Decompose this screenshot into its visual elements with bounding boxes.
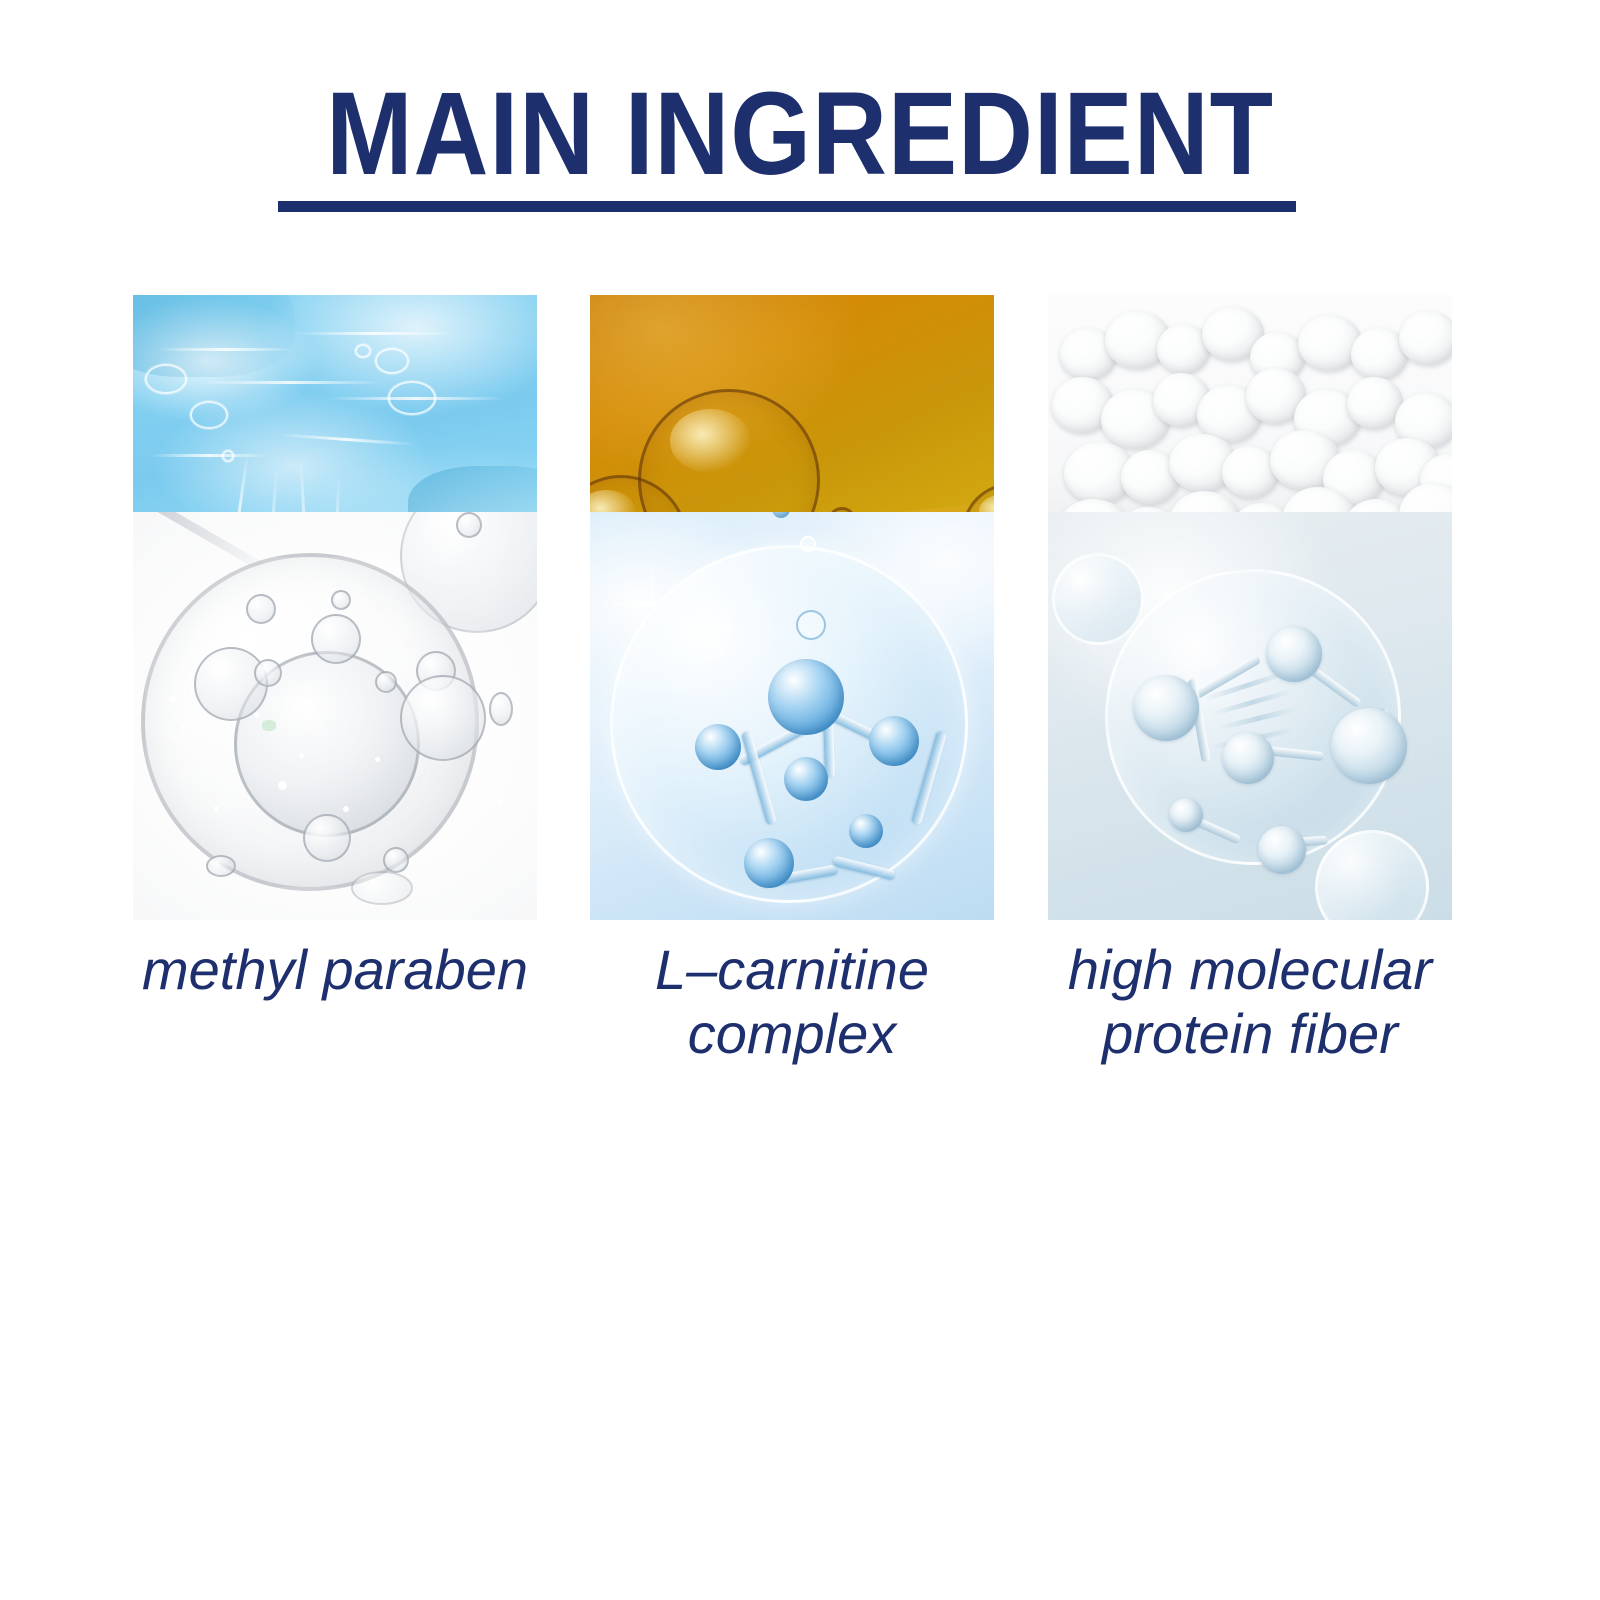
ingredient-card-l-carnitine-complex[interactable]: L–carnitine complex bbox=[590, 512, 994, 1066]
atom-node bbox=[1331, 708, 1407, 784]
atom-node bbox=[1169, 798, 1203, 832]
methyl-paraben-clear-sphere-photo bbox=[133, 512, 537, 920]
ingredient-label: high molecular protein fiber bbox=[1015, 938, 1485, 1066]
page-title: MAIN INGREDIENT bbox=[96, 74, 1504, 194]
bubble-ring-icon bbox=[355, 344, 371, 358]
atom-node bbox=[768, 659, 844, 735]
atom-node bbox=[1258, 826, 1306, 874]
atom-node bbox=[695, 724, 741, 770]
atom-node bbox=[1222, 732, 1274, 784]
atom-node bbox=[784, 757, 828, 801]
l-carnitine-molecule-bubble-photo bbox=[590, 512, 994, 920]
atom-node bbox=[849, 814, 883, 848]
ingredient-label: L–carnitine complex bbox=[590, 938, 994, 1066]
atom-node bbox=[744, 838, 794, 888]
bubble-ring-icon bbox=[375, 348, 409, 374]
atom-node bbox=[1266, 626, 1322, 682]
ingredient-grid: Water glycerin bbox=[133, 295, 1453, 512]
protein-fiber-molecule-bubble-photo bbox=[1048, 512, 1452, 920]
bubble-ring-icon bbox=[190, 401, 228, 429]
ingredient-card-high-molecular-protein-fiber[interactable]: high molecular protein fiber bbox=[1048, 512, 1452, 1066]
side-bubble bbox=[1315, 830, 1429, 920]
ingredient-label: methyl paraben bbox=[100, 938, 570, 1002]
atom-node bbox=[1133, 675, 1199, 741]
atom-node bbox=[869, 716, 919, 766]
side-bubble bbox=[1052, 553, 1144, 645]
title-underline-rule bbox=[278, 201, 1296, 212]
page-title-block: MAIN INGREDIENT bbox=[0, 74, 1600, 194]
ingredient-card-methyl-paraben[interactable]: methyl paraben bbox=[133, 512, 537, 1002]
bubble-ring-icon bbox=[388, 381, 436, 415]
bubble-ring-icon bbox=[145, 364, 187, 394]
bubble-ring-icon bbox=[222, 450, 234, 462]
